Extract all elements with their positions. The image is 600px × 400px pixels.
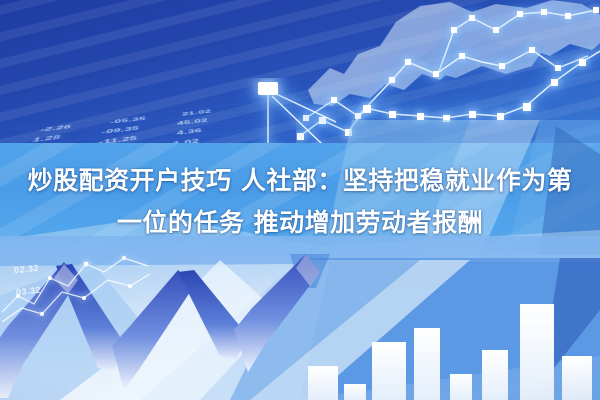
- news-banner: -04.15-2.26-05.3521.02-11.251.25-09.3545…: [0, 0, 600, 400]
- vignette-overlay: [0, 0, 600, 400]
